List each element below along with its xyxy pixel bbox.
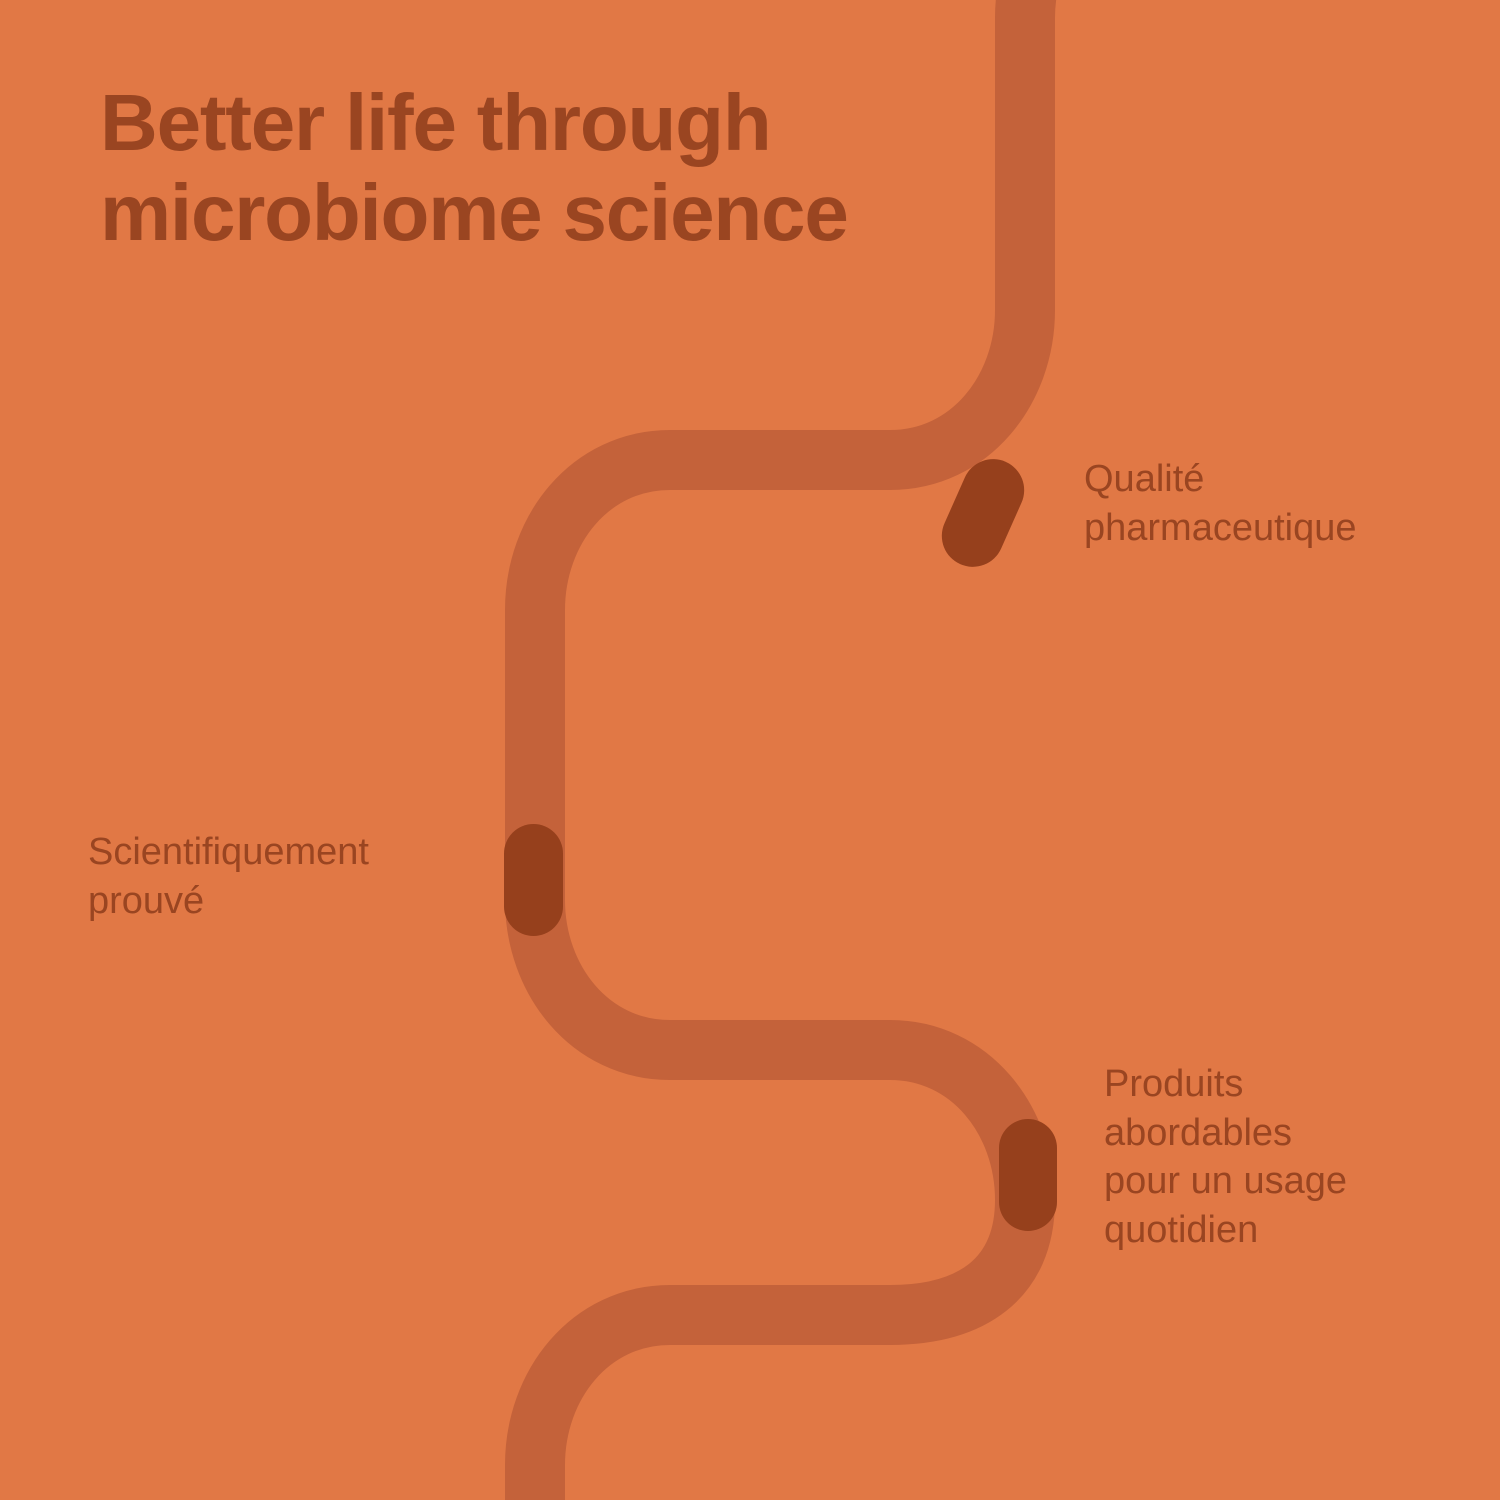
callout-quality-label: Qualité pharmaceutique <box>1084 455 1464 552</box>
page-title: Better life through microbiome science <box>100 78 1000 257</box>
marker-proven <box>504 824 563 936</box>
poster-canvas: Better life through microbiome science Q… <box>0 0 1500 1500</box>
marker-affordable <box>999 1119 1057 1231</box>
callout-proven-label: Scientifiquement prouvé <box>88 828 468 925</box>
callout-affordable-label: Produits abordables pour un usage quotid… <box>1104 1060 1434 1255</box>
